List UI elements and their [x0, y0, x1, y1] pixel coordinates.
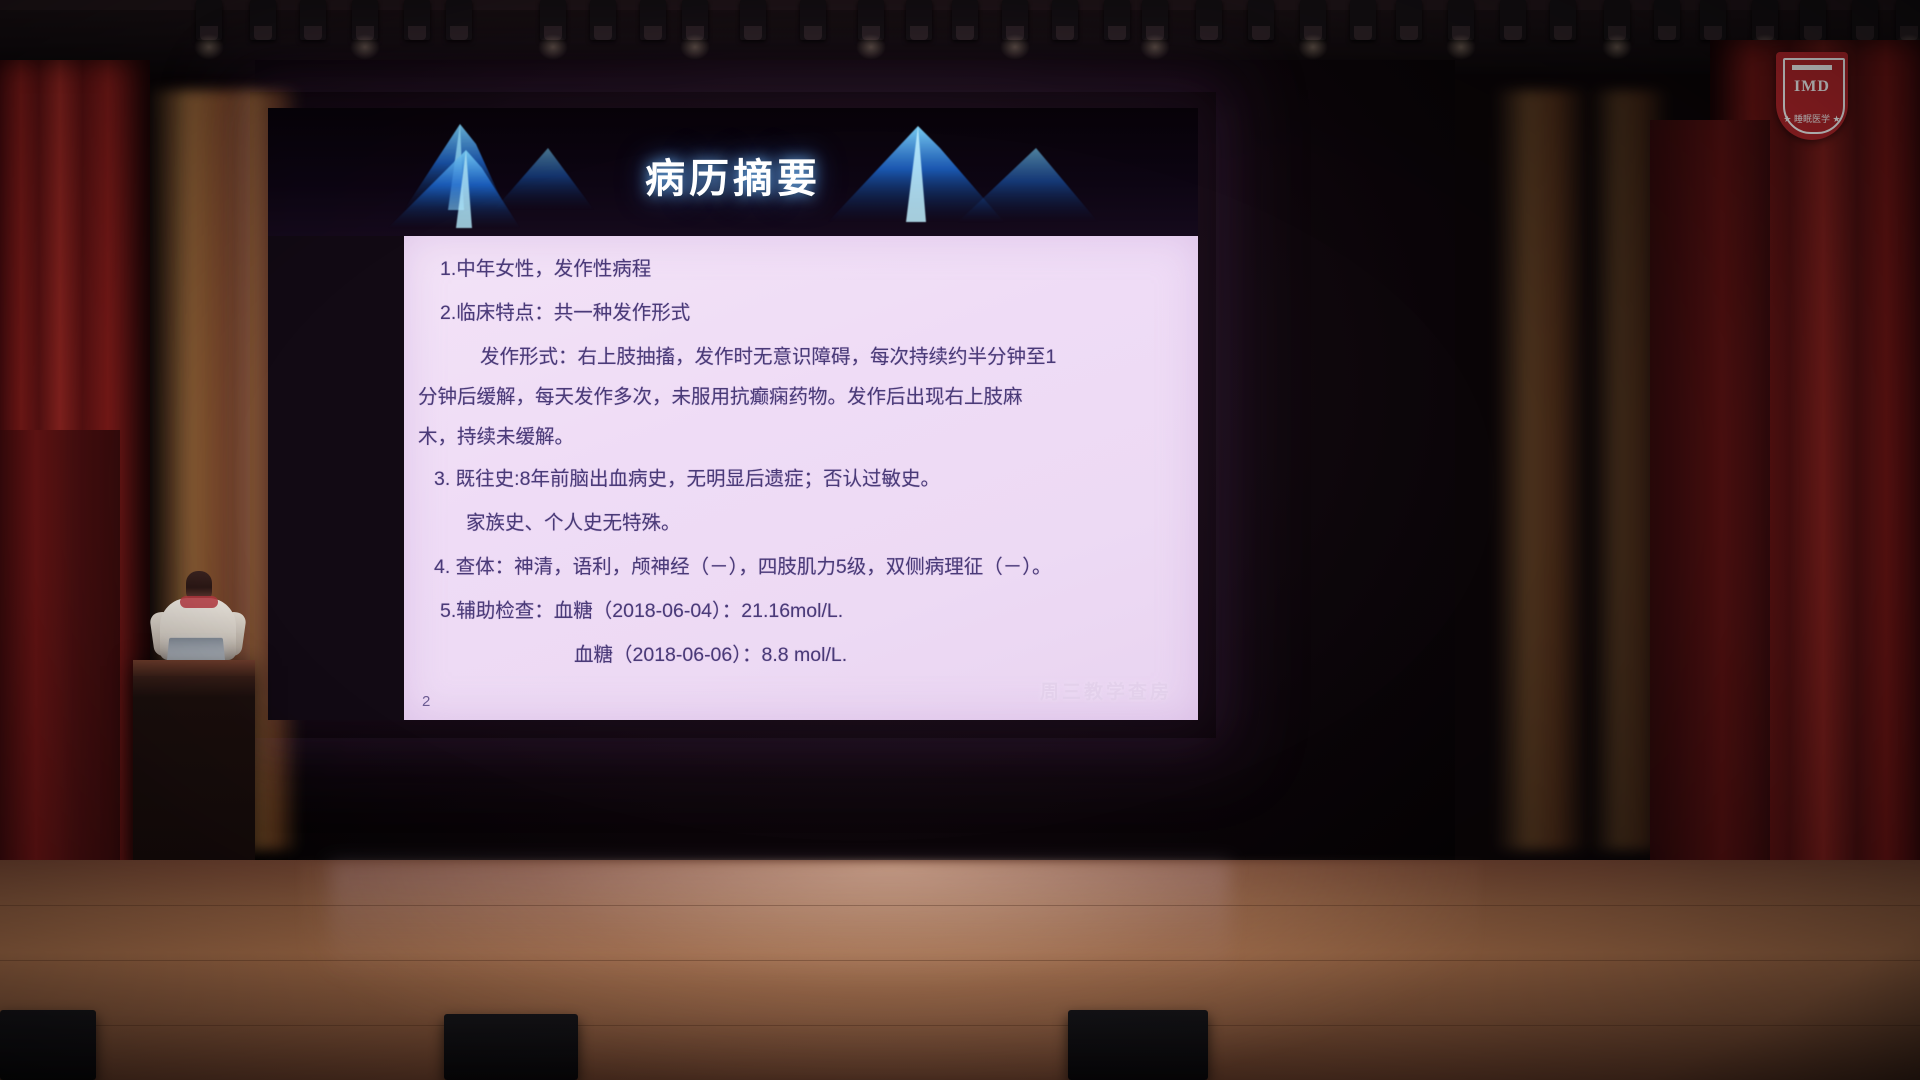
speaker-scarf [180, 596, 218, 608]
stage-light-fixture [1852, 0, 1878, 40]
stage-light-fixture [1196, 0, 1222, 40]
slide-line-item-5a: 血糖（2018-06-06）：8.8 mol/L. [574, 646, 847, 666]
stage-light-fixture [1700, 0, 1726, 40]
stage-monitor-left [0, 1010, 96, 1080]
stage-light-fixture [1350, 0, 1376, 40]
slide-line-item-2b: 分钟后缓解，每天发作多次，未服用抗癫痫药物。发作后出现右上肢麻 [418, 388, 1023, 408]
floor-plank-line [0, 1025, 1920, 1026]
projection-screen: 病历摘要 1.中年女性，发作性病程2.临床特点：共一种发作形式发作形式：右上肢抽… [268, 108, 1198, 720]
stage-light-glow [856, 34, 886, 60]
slide-title-band: 病历摘要 [268, 108, 1198, 236]
slide-line-item-2a: 发作形式：右上肢抽搐，发作时无意识障碍，每次持续约半分钟至1 [480, 348, 1056, 368]
stage-light-glow [194, 34, 224, 60]
slide-line-item-4: 4. 查体：神清，语利，颅神经（－），四肢肌力5级，双侧病理征（－）。 [434, 558, 1052, 578]
stage-light-fixture [1500, 0, 1526, 40]
stage-light-fixture [800, 0, 826, 40]
slide-line-item-3a: 家族史、个人史无特殊。 [466, 514, 681, 534]
floor-plank-line [0, 905, 1920, 906]
slide-watermark: 周三教学查房 [1040, 677, 1172, 704]
slide-line-item-2: 2.临床特点：共一种发作形式 [440, 304, 690, 324]
slide-line-item-3: 3. 既往史:8年前脑出血病史，无明显后遗症；否认过敏史。 [434, 470, 940, 490]
stage-light-fixture [740, 0, 766, 40]
floor-screen-reflection [330, 862, 1230, 982]
light-wash-right-1 [1494, 90, 1590, 850]
stage-light-fixture [1052, 0, 1078, 40]
logo-subtitle: ★ 睡眠医学 ★ [1776, 112, 1848, 125]
stage-light-fixture [1396, 0, 1422, 40]
stage-light-glow [1298, 34, 1328, 60]
stage-light-glow [1446, 34, 1476, 60]
logo-top-bar [1792, 65, 1832, 70]
stage-light-fixture [404, 0, 430, 40]
stage-light-glow [350, 34, 380, 60]
stage-monitor-center-right [1068, 1010, 1208, 1080]
stage-light-glow [1000, 34, 1030, 60]
slide-title: 病历摘要 [268, 146, 1198, 204]
stage-light-fixture [300, 0, 326, 40]
slide-page-number: 2 [422, 693, 430, 710]
stage-light-glow [1602, 34, 1632, 60]
podium-top [133, 660, 255, 676]
stage-light-fixture [1248, 0, 1274, 40]
slide-line-item-1: 1.中年女性，发作性病程 [440, 260, 651, 280]
stage-light-fixture [1104, 0, 1130, 40]
stage-light-fixture [906, 0, 932, 40]
stage-light-fixture [250, 0, 276, 40]
stage-light-fixture [1550, 0, 1576, 40]
slide-body: 1.中年女性，发作性病程2.临床特点：共一种发作形式发作形式：右上肢抽搐，发作时… [404, 236, 1198, 720]
stage-light-glow [680, 34, 710, 60]
stage-light-fixture [446, 0, 472, 40]
stage-light-fixture [590, 0, 616, 40]
logo-acronym: IMD [1776, 78, 1848, 96]
stage-light-fixture [1654, 0, 1680, 40]
stage-monitor-center-left [444, 1014, 578, 1080]
stage-light-fixture [1800, 0, 1826, 40]
stage-scene: 病历摘要 1.中年女性，发作性病程2.临床特点：共一种发作形式发作形式：右上肢抽… [0, 0, 1920, 1080]
imd-logo: IMD ★ 睡眠医学 ★ [1776, 52, 1848, 140]
podium [133, 660, 255, 868]
floor-plank-line [0, 960, 1920, 961]
stage-light-glow [538, 34, 568, 60]
stage-light-fixture [952, 0, 978, 40]
stage-light-glow [1140, 34, 1170, 60]
curtain-right-inner [1650, 120, 1770, 920]
stage-light-fixture [640, 0, 666, 40]
slide-line-item-5: 5.辅助检查：血糖（2018-06-04）：21.16mol/L. [440, 602, 843, 622]
slide-line-item-2c: 木，持续未缓解。 [418, 428, 574, 448]
